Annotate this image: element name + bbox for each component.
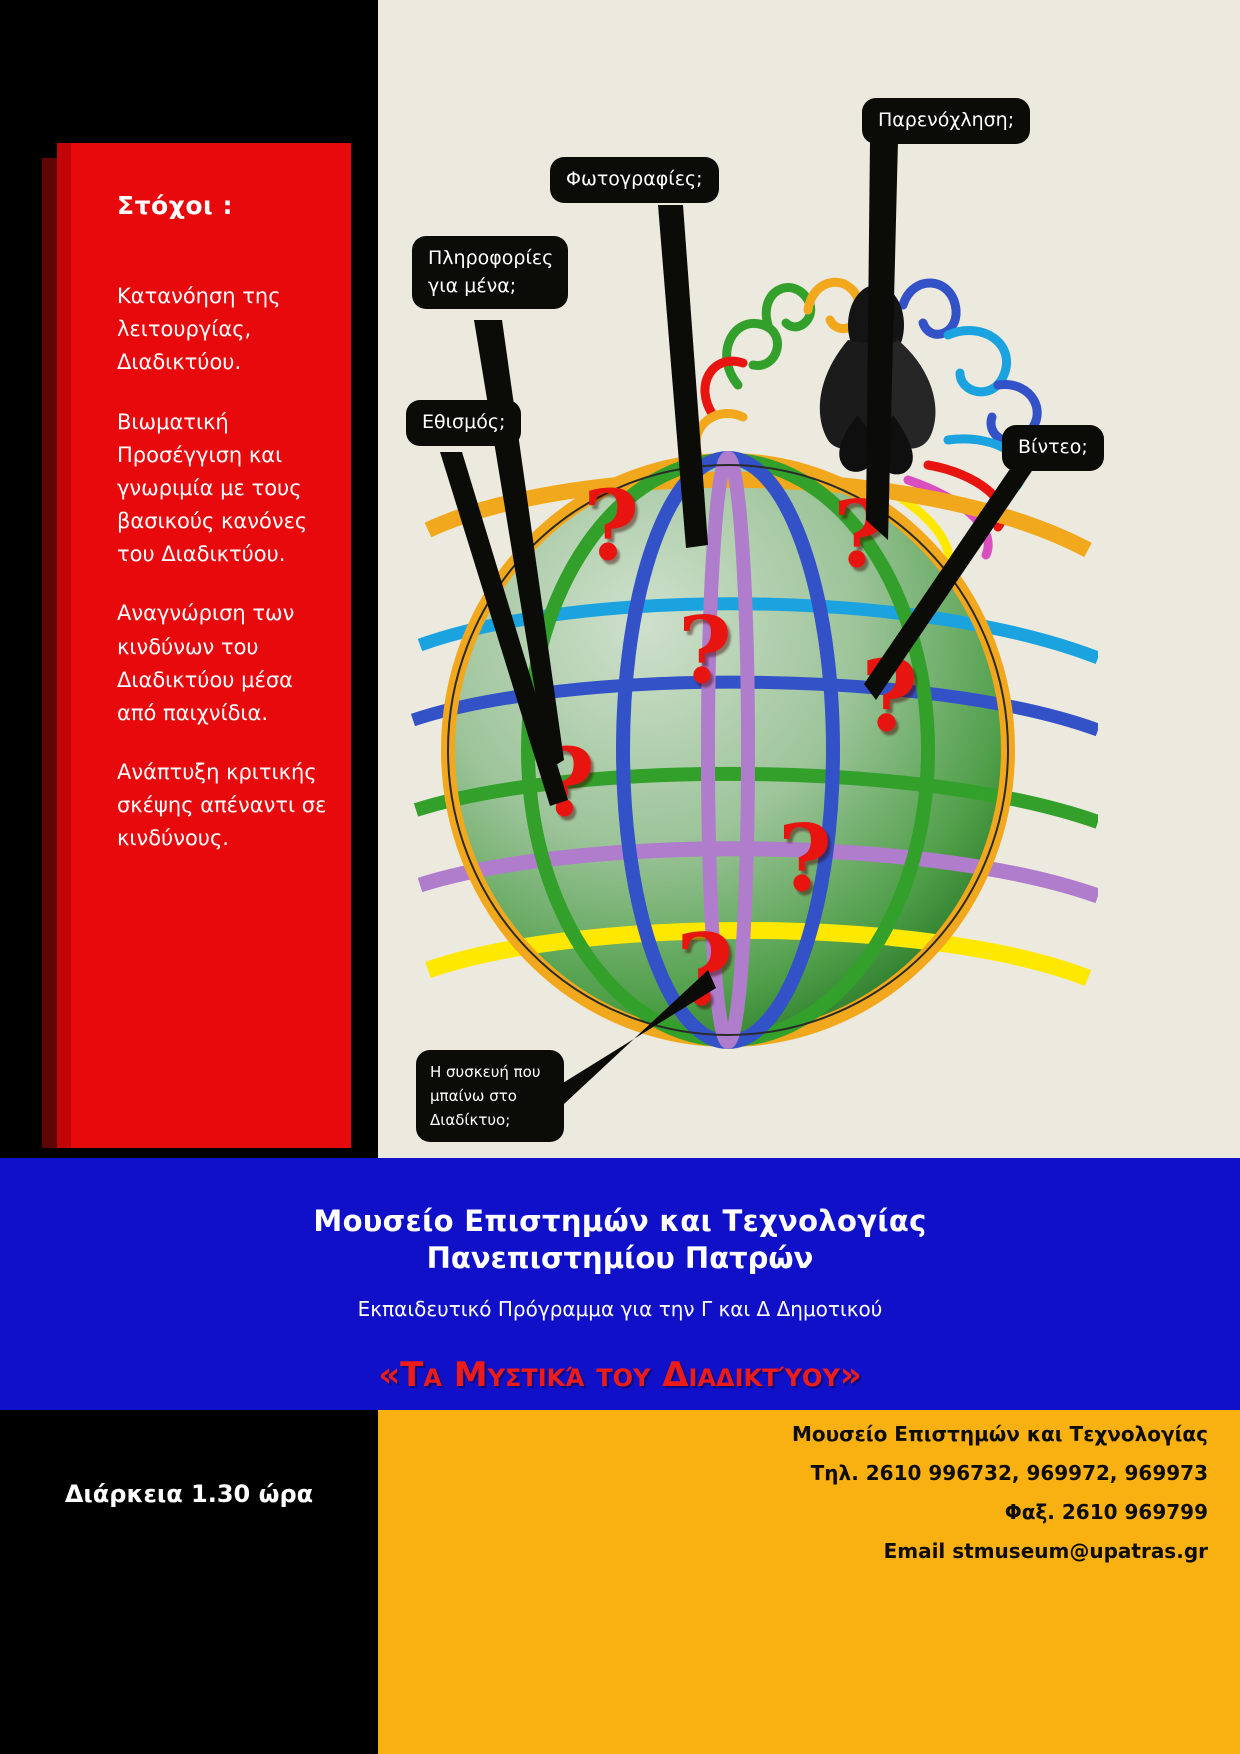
globe-stage: ? ? ? ? ? ? ? Παρενόχληση; Φωτογραφίες; … (378, 0, 1240, 1158)
callout-vinteo[interactable]: Βίντεο; (1002, 425, 1104, 471)
duration-label: Διάρκεια 1.30 ώρα (0, 1480, 378, 1508)
objective-item: Κατανόηση της λειτουργίας, Διαδικτύου. (117, 280, 333, 380)
museum-name-line1: Μουσείο Επιστημών και Τεχνολογίας (0, 1158, 1240, 1238)
contact-email: Email stmuseum@upatras.gr (508, 1532, 1208, 1571)
museum-name-line2: Πανεπιστημίου Πατρών (0, 1241, 1240, 1275)
objectives-title: Στόχοι : (117, 191, 333, 220)
objectives-panel: Στόχοι : Κατανόηση της λειτουργίας, Διαδ… (57, 143, 351, 1148)
duration-panel (0, 1410, 378, 1754)
objective-item: Ανάπτυξη κριτικής σκέψης απέναντι σε κιν… (117, 756, 333, 856)
contact-org: Μουσείο Επιστημών και Τεχνολογίας (508, 1415, 1208, 1454)
contact-fax: Φαξ. 2610 969799 (508, 1493, 1208, 1532)
callout-fotografies[interactable]: Φωτογραφίες; (550, 157, 719, 203)
footer-blue-band: Μουσείο Επιστημών και Τεχνολογίας Πανεπι… (0, 1158, 1240, 1410)
callout-tails (378, 0, 1240, 1158)
program-title: «Τα Μυστικά του Διαδικτύου» (0, 1355, 1240, 1395)
program-subtitle: Εκπαιδευτικό Πρόγραμμα για την Γ και Δ Δ… (0, 1297, 1240, 1321)
callout-plirofories[interactable]: Πληροφορίες για μένα; (412, 236, 568, 309)
objective-item: Αναγνώριση των κινδύνων του Διαδικτύου μ… (117, 597, 333, 730)
callout-parenoxlisi[interactable]: Παρενόχληση; (862, 98, 1030, 144)
contact-phone: Τηλ. 2610 996732, 969972, 969973 (508, 1454, 1208, 1493)
callout-ethismos[interactable]: Εθισμός; (406, 400, 521, 446)
callout-siskevi[interactable]: Η συσκευή που μπαίνω στο Διαδίκτυο; (416, 1050, 564, 1142)
poster-root: ? ? ? ? ? ? ? Παρενόχληση; Φωτογραφίες; … (0, 0, 1240, 1754)
contact-block: Μουσείο Επιστημών και Τεχνολογίας Τηλ. 2… (508, 1415, 1208, 1571)
objective-item: Βιωματική Προσέγγιση και γνωριμία με του… (117, 406, 333, 572)
